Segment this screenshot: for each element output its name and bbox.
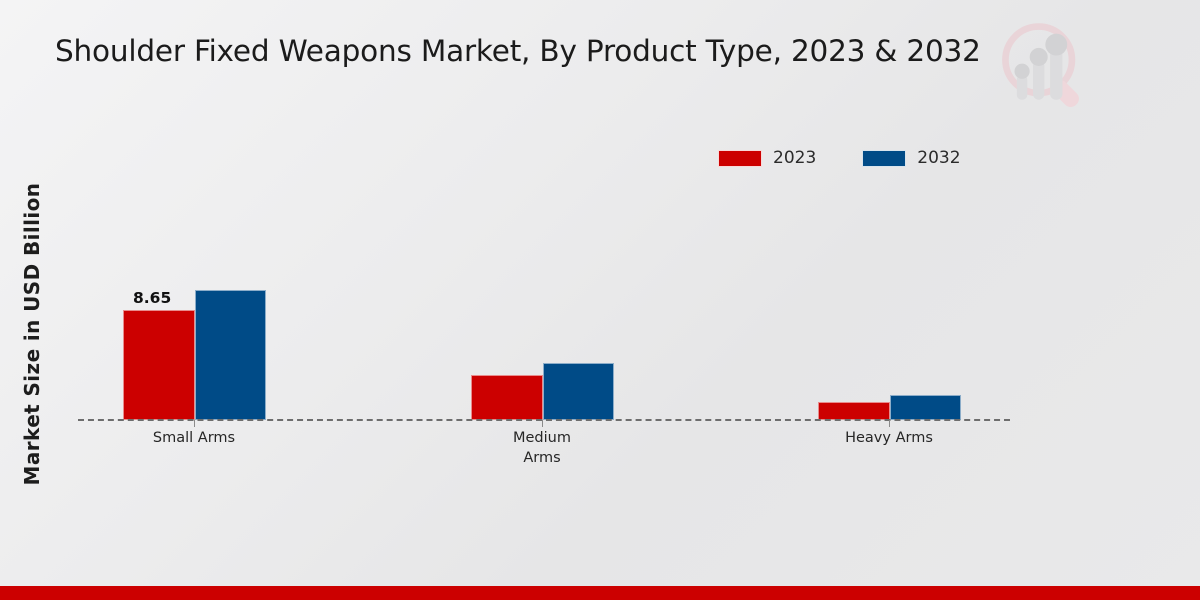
x-axis-label-small-arms-line1: Small Arms: [124, 428, 264, 448]
x-axis-tick-medium-arms: [542, 420, 543, 427]
legend-swatch-2023: [718, 150, 762, 167]
bar-heavy-arms-2023[interactable]: [818, 402, 890, 420]
bar-small-arms-2032[interactable]: [195, 290, 266, 420]
bottom-accent-strip: [0, 586, 1200, 600]
legend-swatch-2032: [862, 150, 906, 167]
x-axis-label-small-arms: Small Arms: [124, 428, 264, 448]
x-axis-baseline: [78, 419, 1010, 421]
bar-small-arms-2023[interactable]: [123, 310, 195, 420]
x-axis-label-medium-arms-line1: Medium: [472, 428, 612, 448]
legend-label-2032: 2032: [917, 148, 960, 168]
value-label-small-arms-2023: 8.65: [133, 289, 171, 307]
x-axis-label-heavy-arms: Heavy Arms: [819, 428, 959, 448]
plot-area: 8.65: [78, 180, 1010, 420]
bar-medium-arms-2032[interactable]: [543, 363, 614, 420]
x-axis-label-heavy-arms-line1: Heavy Arms: [819, 428, 959, 448]
bar-heavy-arms-2032[interactable]: [890, 395, 961, 420]
x-axis-tick-heavy-arms: [889, 420, 890, 427]
bar-medium-arms-2023[interactable]: [471, 375, 543, 420]
y-axis-title: Market Size in USD Billion: [20, 169, 44, 499]
chart-legend: 2023 2032: [718, 148, 961, 168]
legend-item-2032[interactable]: 2032: [862, 148, 960, 168]
legend-item-2023[interactable]: 2023: [718, 148, 816, 168]
bar-group-heavy-arms: [818, 180, 961, 420]
x-axis-tick-small-arms: [194, 420, 195, 427]
chart-page: Shoulder Fixed Weapons Market, By Produc…: [0, 0, 1200, 600]
bar-group-medium-arms: [471, 180, 614, 420]
page-title: Shoulder Fixed Weapons Market, By Produc…: [55, 34, 1055, 68]
x-axis-label-medium-arms-line2: Arms: [472, 448, 612, 468]
x-axis-label-medium-arms: Medium Arms: [472, 428, 612, 468]
legend-label-2023: 2023: [773, 148, 816, 168]
bar-group-small-arms: 8.65: [123, 180, 266, 420]
